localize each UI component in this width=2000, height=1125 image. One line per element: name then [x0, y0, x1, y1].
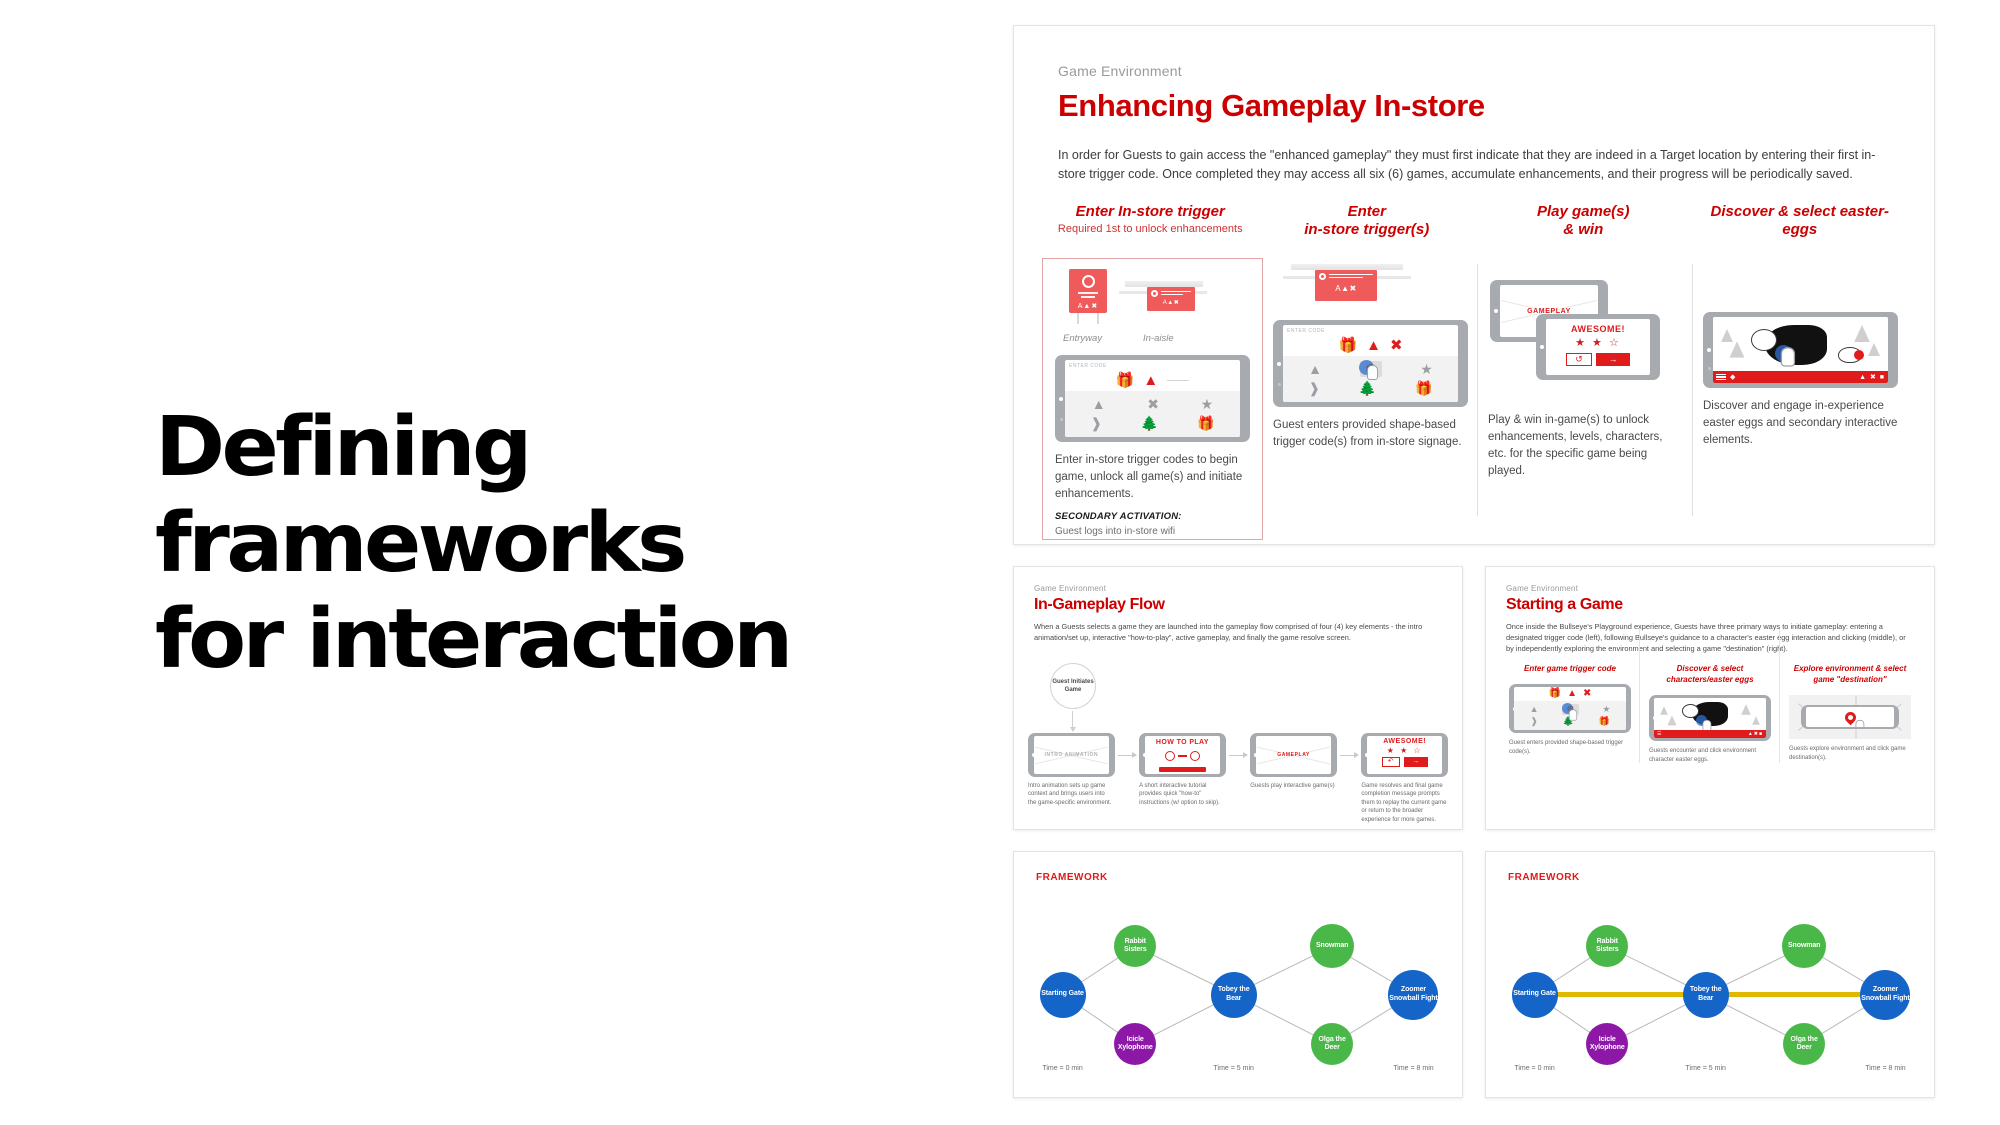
phone-screen[interactable] [1806, 707, 1894, 727]
phone-screen[interactable]: ENTER CODE 🎁 ▲ ▲ ✖ ★ [1065, 360, 1240, 437]
resolve-title: AWESOME! [1546, 324, 1650, 334]
slide-intro-paragraph: In order for Guests to gain access the "… [1058, 146, 1900, 184]
tree-icon [1741, 704, 1751, 714]
gameplay-flow-diagram: Guest Initiates Game INTRO ANIMATION Int… [1028, 663, 1448, 813]
phone-mockup-code-entry[interactable]: ENTER CODE 🎁 ▲ ✖ ▲ ❆ [1273, 320, 1468, 407]
framework-label: FRAMEWORK [1508, 872, 1580, 883]
framework-node-start[interactable]: Starting Gate [1512, 972, 1558, 1018]
slide-card-framework-highlighted[interactable]: FRAMEWORK Starting GateRabbit SistersIci… [1485, 851, 1935, 1098]
cursor-icon [1855, 720, 1867, 727]
tree-icon[interactable]: 🌲 [1359, 381, 1376, 395]
store-signage-illustration: A▲✖ A▲✖ [1055, 267, 1250, 333]
framework-node-olga[interactable]: Olga the Deer [1311, 1023, 1353, 1065]
phone-screen: HOW TO PLAY [1145, 736, 1220, 774]
phone-screen: GAMEPLAY [1256, 736, 1331, 774]
tree-icon [1752, 716, 1760, 724]
framework-node-label: Tobey the Bear [1683, 986, 1729, 1003]
explore-environment-illustration [1789, 695, 1911, 739]
nav-glyphs[interactable]: ▲✖■ [1748, 731, 1763, 737]
star-icon[interactable]: ★ [1201, 397, 1214, 411]
phone-mockup-code-entry[interactable]: ENTER CODE 🎁 ▲ ▲ ✖ ★ [1055, 355, 1250, 442]
shape-keypad[interactable]: ▲ ❆ ★ ❱ 🌲 🎁 [1283, 356, 1458, 402]
slide-eyebrow: Game Environment [1506, 584, 1914, 593]
framework-node-zoomer[interactable]: Zoomer Snowball Fight [1860, 970, 1910, 1020]
cta-button[interactable] [1159, 767, 1206, 772]
game-navbar[interactable]: ☰ ▲✖■ [1654, 730, 1766, 738]
start-method-caption: Guest enters provided shape-based trigge… [1509, 739, 1631, 757]
entryway-sign-icon: A▲✖ [1069, 269, 1107, 313]
slide-intro-paragraph: Once inside the Bullseye's Playground ex… [1506, 621, 1914, 654]
step-column-easter-eggs[interactable]: ◆ ▲ ✖ ■ Discover and engage in-experienc… [1693, 258, 1908, 540]
sign-legs [1073, 313, 1103, 324]
next-button[interactable]: → [1404, 757, 1428, 767]
framework-node-rabbit[interactable]: Rabbit Sisters [1586, 925, 1628, 967]
flow-arrow-icon [1337, 733, 1361, 777]
dash-icon [1178, 755, 1187, 756]
map-pin-icon[interactable] [1843, 710, 1859, 726]
phone-mockup-easter-egg[interactable]: ☰ ▲✖■ [1649, 695, 1771, 741]
phone-camera-dot [1059, 397, 1063, 401]
bullseye-icon [1151, 290, 1158, 297]
framework-node-tobey[interactable]: Tobey the Bear [1211, 972, 1257, 1018]
step-column-enter-in-store-triggers[interactable]: A▲✖ ENTER CODE 🎁 ▲ ✖ [1263, 258, 1478, 540]
gift-icon: 🎁 [1338, 338, 1357, 353]
secondary-activation-label: SECONDARY ACTIVATION: [1055, 511, 1250, 522]
replay-button[interactable]: ↶ [1382, 757, 1400, 767]
framework-node-label: Olga the Deer [1783, 1036, 1825, 1053]
framework-node-label: Starting Gate [1513, 990, 1556, 998]
menu-icon[interactable] [1716, 372, 1726, 381]
column-heading-4: Discover & select easter-eggs [1692, 203, 1909, 239]
phone-mockup-how-to-play[interactable]: HOW TO PLAY [1139, 733, 1226, 777]
flow-step-caption: Guests play interactive game(s) [1250, 782, 1337, 790]
phone-camera-dot [1277, 362, 1281, 366]
framework-node-rabbit[interactable]: Rabbit Sisters [1114, 925, 1156, 967]
slide-eyebrow: Game Environment [1034, 584, 1442, 593]
bullseye-icon [1319, 273, 1326, 280]
triangle-icon[interactable]: ▲ [1092, 397, 1106, 411]
bear-head-icon[interactable] [1751, 329, 1777, 351]
slide-canvas: Defining frameworks for interaction Game… [0, 0, 2000, 1125]
tree-icon [1868, 343, 1880, 356]
ring-icon [1190, 751, 1200, 761]
x-icon[interactable]: ✖ [1147, 397, 1159, 411]
bullseye-icon [1082, 275, 1095, 288]
slide-card-enhancing-gameplay[interactable]: Game Environment Enhancing Gameplay In-s… [1013, 25, 1935, 545]
triangle-icon: ▲ [1143, 373, 1158, 388]
start-method-heading: Enter game trigger code [1509, 663, 1631, 674]
slide-eyebrow: Game Environment [1058, 63, 1182, 79]
phone-mockup-code-entry[interactable]: 🎁 ▲ ✖ ▲ ❆ [1509, 684, 1631, 733]
menu-icon[interactable]: ☰ [1657, 731, 1662, 737]
slide-card-starting-a-game[interactable]: Game Environment Starting a Game Once in… [1485, 566, 1935, 830]
in-aisle-label: In-aisle [1143, 333, 1174, 344]
star-rating: ★ ★ ☆ [1546, 336, 1650, 349]
column-heading-sub: Required 1st to unlock enhancements [1048, 222, 1253, 236]
column-heading-sub: in-store trigger(s) [1265, 221, 1470, 239]
slide-heading: Starting a Game [1506, 596, 1914, 614]
start-method-caption: Guests explore environment and click gam… [1789, 745, 1911, 763]
selected-key-snowflake-icon[interactable]: ❆ [1360, 361, 1382, 377]
entryway-label: Entryway [1063, 333, 1102, 344]
slide-intro-paragraph: When a Guests selects a game they are la… [1034, 621, 1442, 643]
slide-card-in-gameplay-flow[interactable]: Game Environment In-Gameplay Flow When a… [1013, 566, 1463, 830]
secondary-activation-body: Guest logs into in-store wifi [1055, 526, 1250, 537]
framework-node-label: Olga the Deer [1311, 1036, 1353, 1053]
phone-button-dot [1278, 383, 1281, 386]
column-heading-3: Play game(s) & win [1475, 203, 1692, 239]
gift-icon[interactable]: 🎁 [1598, 717, 1609, 726]
flow-arrow-icon [1226, 733, 1250, 777]
sign-glyphs: A▲✖ [1151, 299, 1191, 306]
entered-code-row: 🎁 ▲ ✖ [1514, 687, 1626, 701]
framework-node-label: Rabbit Sisters [1586, 938, 1628, 955]
gift-icon: 🎁 [1116, 373, 1135, 388]
framework-node-label: Zoomer Snowball Fight [1388, 986, 1438, 1003]
start-method-explore[interactable]: Explore environment & select game "desti… [1780, 663, 1920, 765]
tutorial-illustration [1145, 748, 1220, 764]
framework-node-label: Tobey the Bear [1211, 986, 1257, 1003]
start-methods-row: Enter game trigger code 🎁 ▲ ✖ ▲ [1500, 663, 1920, 765]
tree-icon[interactable]: 🌲 [1141, 416, 1158, 430]
start-method-trigger-code[interactable]: Enter game trigger code 🎁 ▲ ✖ ▲ [1500, 663, 1640, 765]
tree-icon [1660, 706, 1668, 714]
tree-icon [1668, 716, 1677, 726]
selected-key-snowflake-icon[interactable]: ❆ [1562, 704, 1580, 715]
framework-node-label: Zoomer Snowball Fight [1860, 986, 1910, 1003]
phone-screen[interactable]: AWESOME! ★ ★ ☆ ↶ → [1367, 736, 1442, 774]
star-icon[interactable]: ★ [1420, 362, 1433, 376]
shape-keypad[interactable]: ▲ ❆ ★ ❱ 🌲 🎁 [1514, 701, 1626, 730]
start-method-caption: Guests encounter and click environment c… [1649, 747, 1771, 765]
next-button[interactable]: → [1596, 353, 1630, 366]
flow-step-list: INTRO ANIMATION Intro animation sets up … [1028, 733, 1448, 824]
triangle-icon[interactable]: ▲ [1308, 362, 1322, 376]
page-title-line-1: Defining [155, 400, 917, 496]
flow-arrow-down-icon [1072, 711, 1073, 731]
framework-node-icicle[interactable]: Icicle Xylophone [1114, 1023, 1156, 1065]
column-heading-title: Discover & select easter-eggs [1698, 203, 1903, 239]
page-title-line-2: frameworks [155, 496, 917, 592]
framework-time-label: Time = 8 min [1865, 1065, 1905, 1072]
phone-camera-dot [1494, 309, 1498, 313]
flow-step-caption: Intro animation sets up game context and… [1028, 782, 1115, 807]
candycane-icon[interactable]: ❱ [1090, 416, 1102, 430]
framework-node-label: Rabbit Sisters [1114, 938, 1156, 955]
screen-label: HOW TO PLAY [1145, 739, 1220, 746]
page-title-line-3: for interaction [155, 592, 917, 688]
column-heading-title: Enter In-store trigger [1048, 203, 1253, 221]
screen-label: GAMEPLAY [1256, 736, 1331, 774]
resolve-title: AWESOME! [1367, 738, 1442, 745]
slide-heading: Enhancing Gameplay In-store [1058, 88, 1485, 124]
step-caption: Guest enters provided shape-based trigge… [1273, 417, 1468, 451]
phone-screen[interactable]: AWESOME! ★ ★ ☆ ↺ → [1546, 319, 1650, 375]
framework-node-icicle[interactable]: Icicle Xylophone [1586, 1023, 1628, 1065]
tree-icon[interactable]: 🌲 [1563, 717, 1574, 726]
column-content-row: A▲✖ A▲✖ Entryway In-aisle [1042, 258, 1908, 540]
framework-node-zoomer[interactable]: Zoomer Snowball Fight [1388, 970, 1438, 1020]
step-column-enter-in-store-trigger[interactable]: A▲✖ A▲✖ Entryway In-aisle [1042, 258, 1263, 540]
star-rating: ★ ★ ☆ [1367, 746, 1442, 755]
signage-labels: Entryway In-aisle [1055, 333, 1250, 347]
triangle-icon: ▲ [1567, 689, 1577, 699]
phone-button-dot [1708, 367, 1711, 370]
entered-code-row: 🎁 ▲ ✖ [1283, 335, 1458, 356]
step-caption: Enter in-store trigger codes to begin ga… [1055, 452, 1250, 503]
sign-glyphs: A▲✖ [1319, 284, 1373, 293]
screen-label: INTRO ANIMATION [1034, 736, 1109, 774]
tap-highlight [1696, 715, 1707, 726]
framework-node-olga[interactable]: Olga the Deer [1783, 1023, 1825, 1065]
column-heading-sub: & win [1481, 221, 1686, 239]
phone-mockup-intro[interactable]: INTRO ANIMATION [1028, 733, 1115, 777]
gameplay-illustration: GAMEPLAY AWESOME! ★ ★ ☆ ↺ → [1488, 280, 1683, 390]
step-caption: Play & win in-game(s) to unlock enhancem… [1488, 412, 1683, 480]
flow-step[interactable]: HOW TO PLAY A short interactive tutorial… [1139, 733, 1226, 807]
flow-step[interactable]: GAMEPLAY Guests play interactive game(s) [1250, 733, 1337, 790]
framework-node-label: Starting Gate [1041, 990, 1084, 998]
column-headings: Enter In-store trigger Required 1st to u… [1042, 203, 1908, 239]
phone-screen[interactable]: 🎁 ▲ ✖ ▲ ❆ [1514, 687, 1626, 730]
phone-screen[interactable]: ENTER CODE 🎁 ▲ ✖ ▲ ❆ [1283, 325, 1458, 402]
easter-egg-scene: ☰ ▲✖■ [1654, 698, 1766, 738]
column-heading-title: Enter [1265, 203, 1470, 221]
framework-node-snowman[interactable]: Snowman [1310, 924, 1354, 968]
phone-mockup-easter-egg[interactable]: ◆ ▲ ✖ ■ [1703, 312, 1898, 388]
screen-label: ENTER CODE [1065, 360, 1240, 370]
easter-egg-badge[interactable] [1854, 350, 1864, 360]
phone-camera-dot [1707, 348, 1711, 352]
phone-mockup-resolve[interactable]: AWESOME! ★ ★ ☆ ↺ → [1536, 314, 1660, 380]
phone-screen: INTRO ANIMATION [1034, 736, 1109, 774]
framework-diagram: Starting GateRabbit SistersIcicle Xyloph… [1024, 902, 1452, 1087]
flow-step-caption: Game resolves and final game completion … [1361, 782, 1448, 824]
in-aisle-sign-icon: A▲✖ [1315, 270, 1377, 301]
easter-egg-scene: ◆ ▲ ✖ ■ [1713, 317, 1888, 383]
phone-screen[interactable]: ◆ ▲ ✖ ■ [1713, 317, 1888, 383]
triangle-icon: ▲ [1366, 338, 1381, 353]
empty-code-slot [1167, 380, 1189, 382]
phone-mockup-resolve[interactable]: AWESOME! ★ ★ ☆ ↶ → [1361, 733, 1448, 777]
flow-step[interactable]: AWESOME! ★ ★ ☆ ↶ → Game resolves and fin… [1361, 733, 1448, 824]
framework-node-label: Snowman [1788, 942, 1820, 950]
tree-icon [1854, 325, 1870, 342]
shape-keypad[interactable]: ▲ ✖ ★ ❱ 🌲 🎁 [1065, 391, 1240, 437]
candycane-icon[interactable]: ❱ [1530, 717, 1538, 726]
tree-icon [1721, 329, 1733, 342]
ring-icon [1165, 751, 1175, 761]
framework-time-label: Time = 0 min [1042, 1065, 1082, 1072]
step-column-play-and-win[interactable]: GAMEPLAY AWESOME! ★ ★ ☆ ↺ → [1478, 258, 1693, 540]
framework-label: FRAMEWORK [1036, 872, 1108, 883]
candycane-icon[interactable]: ❱ [1308, 381, 1320, 395]
framework-time-label: Time = 5 min [1214, 1065, 1254, 1072]
phone-screen[interactable]: ☰ ▲✖■ [1654, 698, 1766, 738]
x-icon: ✖ [1583, 689, 1591, 699]
start-method-heading: Explore environment & select game "desti… [1789, 663, 1911, 685]
tap-highlight [1775, 345, 1792, 362]
in-aisle-signage-illustration: A▲✖ [1273, 258, 1468, 316]
flow-arrow-icon [1115, 733, 1139, 777]
framework-node-label: Snowman [1316, 942, 1348, 950]
framework-node-label: Icicle Xylophone [1586, 1036, 1628, 1053]
nav-glyphs[interactable]: ▲ ✖ ■ [1859, 373, 1885, 381]
framework-time-label: Time = 5 min [1686, 1065, 1726, 1072]
resolve-screen: AWESOME! ★ ★ ☆ ↺ → [1546, 319, 1650, 370]
framework-time-label: Time = 0 min [1514, 1065, 1554, 1072]
step-caption: Discover and engage in-experience easter… [1703, 398, 1898, 449]
phone-camera-dot [1540, 345, 1544, 349]
slide-card-framework-base[interactable]: FRAMEWORK Starting GateRabbit SistersIci… [1013, 851, 1463, 1098]
tag-icon[interactable]: ◆ [1730, 373, 1736, 381]
replay-button[interactable]: ↺ [1566, 353, 1592, 366]
phone-mockup-destination[interactable] [1801, 705, 1899, 729]
start-method-easter-eggs[interactable]: Discover & select characters/easter eggs [1640, 663, 1780, 765]
triangle-icon[interactable]: ▲ [1530, 705, 1539, 714]
page-title: Defining frameworks for interaction [155, 400, 895, 688]
game-navbar[interactable]: ◆ ▲ ✖ ■ [1713, 371, 1888, 383]
screen-label: ENTER CODE [1283, 325, 1458, 335]
in-aisle-sign-icon: A▲✖ [1147, 287, 1195, 311]
flow-start-node[interactable]: Guest Initiates Game [1050, 663, 1096, 709]
framework-node-label: Icicle Xylophone [1114, 1036, 1156, 1053]
framework-time-label: Time = 8 min [1393, 1065, 1433, 1072]
column-heading-title: Play game(s) [1481, 203, 1686, 221]
x-icon: ✖ [1390, 338, 1403, 353]
gift-icon[interactable]: 🎁 [1197, 416, 1214, 430]
phone-button-dot [1060, 418, 1063, 421]
entered-code-row: 🎁 ▲ [1065, 370, 1240, 391]
column-heading-1: Enter In-store trigger Required 1st to u… [1042, 203, 1259, 239]
tree-icon [1730, 341, 1745, 357]
flow-step[interactable]: INTRO ANIMATION Intro animation sets up … [1028, 733, 1115, 807]
framework-node-tobey[interactable]: Tobey the Bear [1683, 972, 1729, 1018]
star-icon[interactable]: ★ [1602, 705, 1610, 714]
gift-icon[interactable]: 🎁 [1415, 381, 1432, 395]
framework-node-snowman[interactable]: Snowman [1782, 924, 1826, 968]
slide-heading: In-Gameplay Flow [1034, 596, 1442, 614]
framework-diagram: Starting GateRabbit SistersIcicle Xyloph… [1496, 902, 1924, 1087]
framework-node-start[interactable]: Starting Gate [1040, 972, 1086, 1018]
phone-mockup-gameplay[interactable]: GAMEPLAY [1250, 733, 1337, 777]
start-method-heading: Discover & select characters/easter eggs [1649, 663, 1771, 685]
column-heading-2: Enter in-store trigger(s) [1259, 203, 1476, 239]
sign-glyphs: A▲✖ [1069, 302, 1107, 310]
flow-step-caption: A short interactive tutorial provides qu… [1139, 782, 1226, 807]
gift-icon: 🎁 [1549, 689, 1561, 699]
